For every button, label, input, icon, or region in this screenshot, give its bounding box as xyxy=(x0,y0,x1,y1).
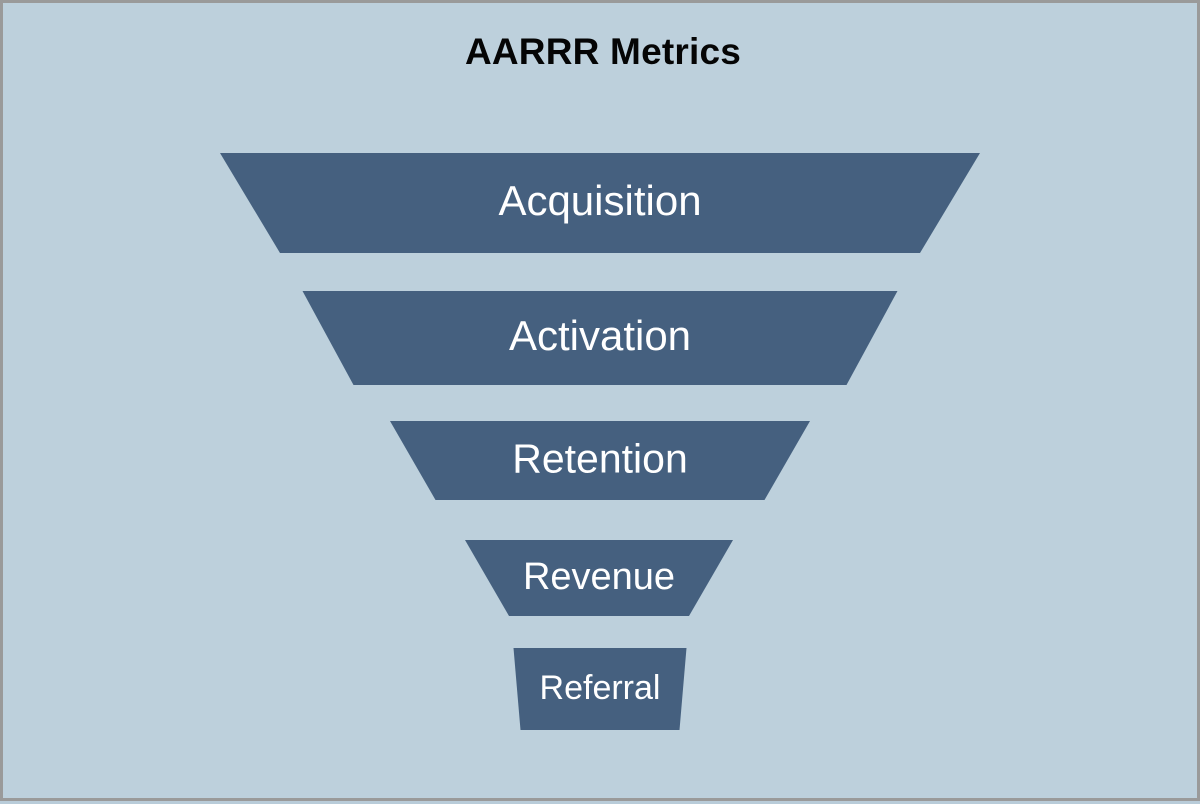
funnel-chart-canvas: AARRR Metrics Acquisition Activation Ret… xyxy=(0,0,1200,801)
funnel-stage-label: Acquisition xyxy=(498,177,701,224)
funnel-diagram: Acquisition Activation Retention Revenue… xyxy=(3,3,1200,804)
funnel-stage-retention[interactable]: Retention xyxy=(390,421,810,500)
funnel-stage-revenue[interactable]: Revenue xyxy=(465,540,733,616)
funnel-stage-acquisition[interactable]: Acquisition xyxy=(220,153,980,253)
funnel-stage-label: Referral xyxy=(540,669,661,707)
funnel-stage-label: Retention xyxy=(512,435,688,481)
funnel-stage-label: Revenue xyxy=(523,556,675,598)
funnel-stage-referral[interactable]: Referral xyxy=(514,648,687,730)
funnel-stage-label: Activation xyxy=(509,312,691,359)
funnel-stage-activation[interactable]: Activation xyxy=(303,291,898,385)
